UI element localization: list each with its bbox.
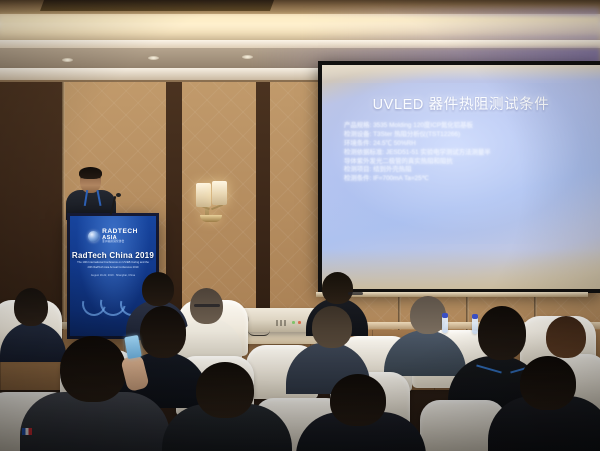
bottle-cap bbox=[442, 313, 448, 318]
projector-vent bbox=[276, 320, 278, 326]
wall-divider-column-b bbox=[256, 82, 270, 340]
ceiling-downlight-icon bbox=[148, 56, 159, 60]
slide-line: 产品规格: 3535 Molding 120度ICP氮化铝基板 bbox=[344, 122, 582, 130]
attendee-head bbox=[322, 272, 353, 304]
ceiling-recess-panel bbox=[40, 0, 274, 11]
slide-title: UVLED 器件热阻测试条件 bbox=[322, 93, 600, 114]
slide-line: 导体紫外发光二极管的真实热阻和阻抗 bbox=[344, 158, 582, 166]
screen-top-falloff bbox=[322, 65, 600, 81]
attendee-glasses bbox=[348, 292, 363, 295]
projector-vent bbox=[280, 320, 282, 326]
projector-status-led bbox=[298, 321, 301, 324]
attendee-head bbox=[410, 296, 446, 334]
attendee-head bbox=[196, 362, 254, 418]
slide-body-text: 产品规格: 3535 Molding 120度ICP氮化铝基板 检测设备: T3… bbox=[344, 122, 582, 184]
microphone-icon bbox=[116, 193, 121, 197]
attendee-head bbox=[546, 316, 586, 358]
sconce-shade-right bbox=[212, 181, 227, 205]
screen-bottom-falloff bbox=[322, 249, 600, 289]
projector-power-led bbox=[292, 321, 295, 324]
attendee-glasses bbox=[194, 304, 220, 307]
slide-line: 检测依据标准: JESD51-51 实验电学测试方法测量半 bbox=[344, 149, 582, 157]
podium-subline-1: The 19th International Conference on UV/… bbox=[70, 261, 156, 264]
projector-vent bbox=[284, 320, 286, 326]
attendee-head bbox=[60, 336, 126, 402]
attendee-head bbox=[140, 306, 186, 358]
bottle-cap bbox=[472, 314, 478, 319]
slide-line: 检测设备: T3Ster 热阻分析仪(TST12266) bbox=[344, 131, 582, 139]
radtech-logo: RADTECH ASIA 亚洲辐射固化协会 bbox=[70, 229, 156, 244]
attendee-head bbox=[312, 306, 352, 348]
podium-dates: August 19-22, 2019 · Shanghai, China bbox=[70, 274, 156, 277]
attendee-head bbox=[330, 374, 386, 426]
slide-line: 检测项目: 结到外壳热阻 bbox=[344, 166, 582, 174]
speaker-hair bbox=[79, 167, 102, 179]
conference-room-photo: UVLED 器件热阻测试条件 产品规格: 3535 Molding 120度IC… bbox=[0, 0, 600, 451]
ceiling bbox=[0, 0, 600, 46]
ceiling-cove-light-glow bbox=[0, 16, 600, 36]
projection-screen: UVLED 器件热阻测试条件 产品规格: 3535 Molding 120度IC… bbox=[322, 65, 600, 289]
attendee-head bbox=[478, 306, 526, 360]
wall-seam bbox=[62, 82, 65, 340]
radtech-logo-chinese: 亚洲辐射固化协会 bbox=[102, 241, 138, 244]
projector-cable bbox=[248, 330, 270, 336]
sconce-shade-left bbox=[196, 183, 211, 207]
radtech-logo-text: RADTECH ASIA 亚洲辐射固化协会 bbox=[102, 229, 138, 244]
globe-icon bbox=[88, 231, 99, 242]
ceiling-downlight-icon bbox=[62, 58, 73, 62]
attendee-head bbox=[14, 288, 48, 326]
attendee-head bbox=[520, 356, 576, 410]
attendee-head bbox=[142, 272, 174, 306]
slide-line: 检测条件: IF=700mA Ta=25℃ bbox=[344, 175, 582, 183]
sconce-base bbox=[200, 215, 222, 222]
attendee-badge-flag bbox=[22, 428, 32, 435]
ceiling-downlight-icon bbox=[242, 55, 253, 59]
podium-headline: RadTech China 2019 bbox=[70, 251, 156, 260]
water-bottle bbox=[442, 316, 448, 333]
podium-subline-2: 20th RadTech Asia Annual Conference 2019 bbox=[70, 266, 156, 269]
slide-line: 环境条件: 24.5℃ 50%RH bbox=[344, 140, 582, 148]
